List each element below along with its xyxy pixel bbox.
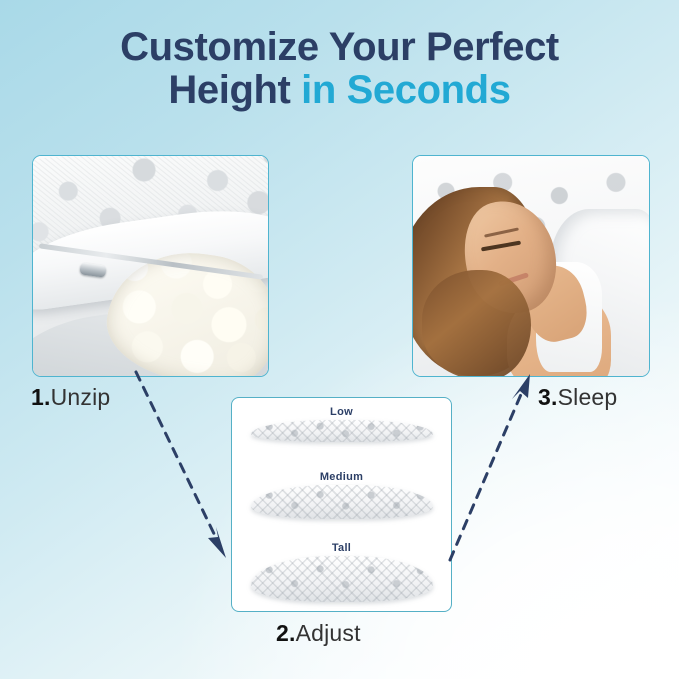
caption-step-sleep-label: Sleep (558, 384, 618, 410)
infographic-canvas: Customize Your Perfect Height in Seconds (0, 0, 679, 679)
pillow-label-tall: Tall (232, 542, 451, 554)
caption-step-unzip-label: Unzip (51, 384, 111, 410)
photo-sleep (412, 155, 650, 377)
pillow-shape-tall (251, 556, 433, 602)
pillow-option-tall: Tall (232, 542, 451, 602)
headline-line-2: Height in Seconds (0, 69, 679, 112)
headline-line-2-navy: Height (168, 68, 301, 112)
headline-line-2-cyan: in Seconds (301, 68, 510, 112)
caption-step-unzip: 1.Unzip (31, 384, 110, 411)
caption-step-adjust: 2.Adjust (276, 620, 361, 647)
arrow-unzip-to-adjust-icon (130, 366, 240, 566)
caption-step-adjust-number: 2. (276, 620, 296, 646)
page-title: Customize Your Perfect Height in Seconds (0, 26, 679, 112)
pillow-option-medium: Medium (232, 471, 451, 519)
pillow-shape-medium (251, 485, 433, 519)
pillow-shape-low (251, 420, 433, 442)
hair-front-curls (422, 270, 531, 376)
caption-step-sleep-number: 3. (538, 384, 558, 410)
arrow-adjust-to-sleep-icon (440, 366, 550, 566)
photo-unzip (32, 155, 269, 377)
headline-line-1: Customize Your Perfect (0, 26, 679, 69)
photo-adjust: Low Medium Tall (231, 397, 452, 612)
caption-step-adjust-label: Adjust (296, 620, 361, 646)
photo-unzip-content (33, 156, 268, 376)
caption-step-sleep: 3.Sleep (538, 384, 617, 411)
caption-step-unzip-number: 1. (31, 384, 51, 410)
pillow-label-low: Low (232, 406, 451, 418)
pillow-label-medium: Medium (232, 471, 451, 483)
pillow-option-low: Low (232, 406, 451, 442)
photo-sleep-content (413, 156, 649, 376)
